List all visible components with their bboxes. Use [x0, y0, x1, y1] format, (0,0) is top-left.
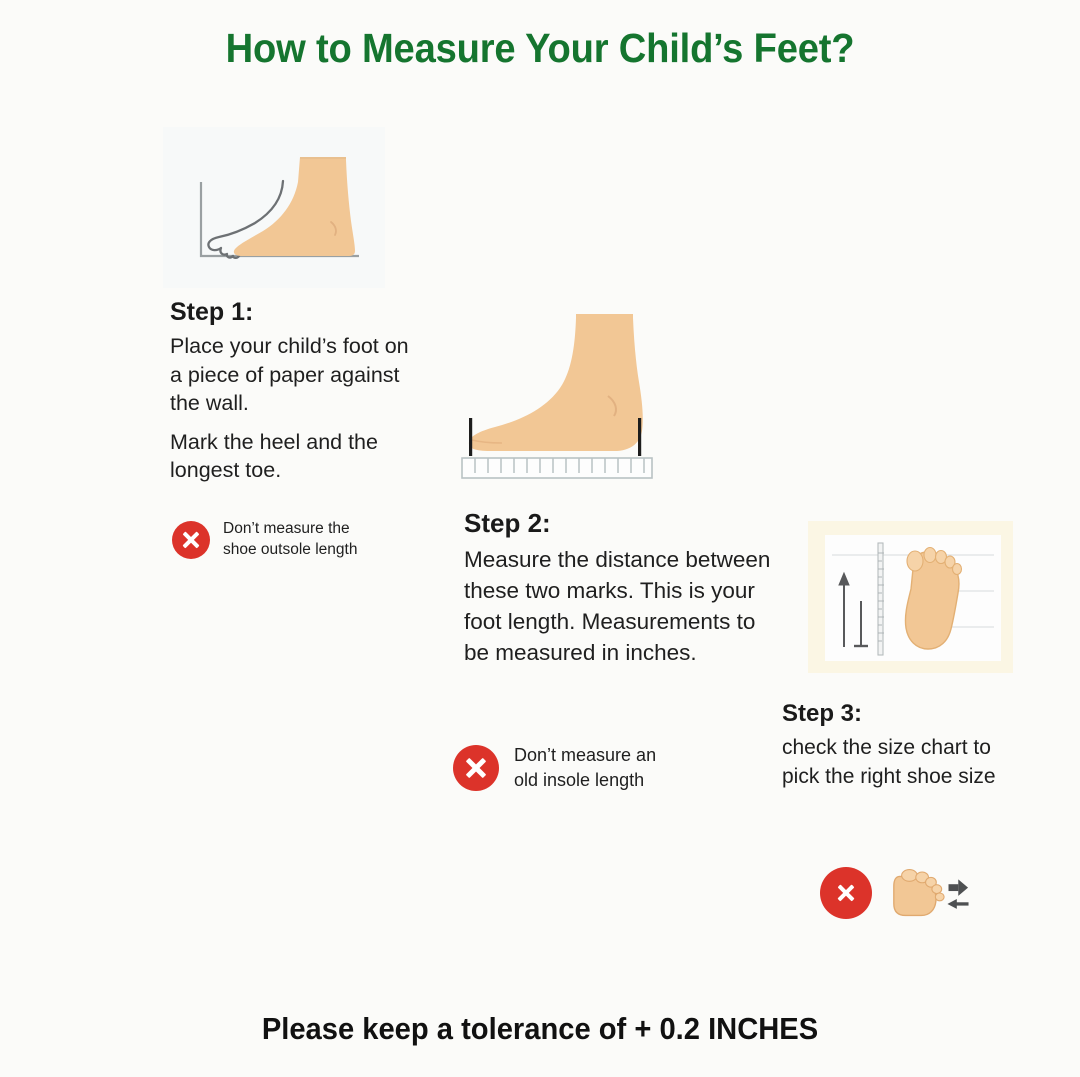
- step-2-warning-text: Don’t measure an old insole length: [514, 743, 683, 792]
- foot-sole-on-size-chart-graphic: [808, 521, 1013, 673]
- step-2-warning: Don’t measure an old insole length: [453, 743, 683, 792]
- step-1-body: Place your child’s foot on a piece of pa…: [170, 332, 420, 485]
- step-1-line-1: Place your child’s foot on a piece of pa…: [170, 332, 420, 418]
- cross-mark-icon: [820, 867, 872, 919]
- step-1-line-2: Mark the heel and the longest toe.: [170, 428, 420, 485]
- step-2-illustration: [450, 300, 700, 490]
- step-1-warning-text: Don’t measure the shoe outsole length: [223, 519, 382, 560]
- step-3-heading: Step 3:: [782, 700, 1022, 728]
- cross-mark-icon: [172, 521, 210, 559]
- step-2-text-block: Step 2: Measure the distance between the…: [464, 508, 784, 668]
- cross-mark-icon: [453, 745, 499, 791]
- heel-mark: [638, 418, 641, 456]
- arrow-left-icon: [949, 900, 969, 908]
- foot-width-measure-icon: [886, 862, 970, 924]
- step-1-illustration: [163, 127, 385, 288]
- step-1-heading: Step 1:: [170, 298, 420, 327]
- step-1-warning: Don’t measure the shoe outsole length: [172, 519, 382, 560]
- step-3-text-block: Step 3: check the size chart to pick the…: [782, 700, 1022, 791]
- step-3-line-1: check the size chart to pick the right s…: [782, 733, 1022, 791]
- step-2-heading: Step 2:: [464, 508, 784, 539]
- step-2-body: Measure the distance between these two m…: [464, 544, 784, 668]
- arrow-right-icon: [949, 879, 969, 896]
- step-3-body: check the size chart to pick the right s…: [782, 733, 1022, 791]
- foot-side-view-against-wall-graphic: [163, 127, 385, 288]
- tolerance-note: Please keep a tolerance of + 0.2 INCHES: [32, 1011, 1047, 1047]
- toe-mark: [469, 418, 472, 456]
- step-1-text-block: Step 1: Place your child’s foot on a pie…: [170, 298, 420, 485]
- infographic-canvas: How to Measure Your Child’s Feet? Step 1…: [0, 0, 1080, 1077]
- step-3-warning: [820, 862, 970, 924]
- step-3-illustration: [808, 521, 1013, 673]
- foot-side-view-on-ruler-graphic: [450, 300, 700, 490]
- step-2-line-1: Measure the distance between these two m…: [464, 544, 784, 668]
- page-title: How to Measure Your Child’s Feet?: [38, 25, 1042, 72]
